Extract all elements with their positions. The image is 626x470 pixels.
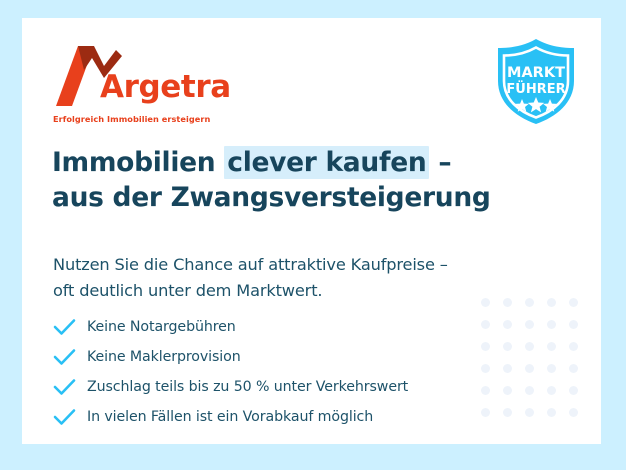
badge-line2: FÜHRER — [506, 81, 565, 97]
list-item: Keine Maklerprovision — [53, 342, 533, 372]
benefit-label: Zuschlag teils bis zu 50 % unter Verkehr… — [87, 379, 408, 395]
headline-line1-after: – — [429, 147, 451, 178]
promo-banner: Argetra Erfolgreich Immobilien ersteiger… — [0, 0, 626, 470]
benefit-label: Keine Notargebühren — [87, 319, 236, 335]
headline: Immobilien clever kaufen – aus der Zwang… — [52, 146, 522, 216]
benefit-label: In vielen Fällen ist ein Vorabkauf mögli… — [87, 409, 373, 425]
logo-tagline: Erfolgreich Immobilien ersteigern — [53, 114, 210, 124]
benefit-label: Keine Maklerprovision — [87, 349, 241, 365]
market-leader-badge: MARKT FÜHRER — [490, 35, 582, 127]
dot — [547, 320, 556, 329]
dot — [547, 364, 556, 373]
headline-highlight: clever kaufen — [224, 146, 429, 179]
benefit-list: Keine Notargebühren Keine Maklerprovisio… — [53, 312, 533, 432]
headline-line2: aus der Zwangsversteigerung — [52, 181, 522, 216]
subheadline-line2: oft deutlich unter dem Marktwert. — [53, 278, 533, 304]
check-icon — [53, 408, 76, 426]
dot — [547, 408, 556, 417]
list-item: In vielen Fällen ist ein Vorabkauf mögli… — [53, 402, 533, 432]
list-item: Zuschlag teils bis zu 50 % unter Verkehr… — [53, 372, 533, 402]
dot — [569, 320, 578, 329]
subheadline: Nutzen Sie die Chance auf attraktive Kau… — [53, 252, 533, 304]
content-card: Argetra Erfolgreich Immobilien ersteiger… — [22, 18, 601, 444]
dot — [547, 298, 556, 307]
check-icon — [53, 348, 76, 366]
dot — [569, 364, 578, 373]
logo-wordmark: Argetra — [100, 72, 231, 103]
dot — [569, 386, 578, 395]
badge-line1: MARKT — [507, 65, 565, 81]
subheadline-line1: Nutzen Sie die Chance auf attraktive Kau… — [53, 252, 533, 278]
check-icon — [53, 378, 76, 396]
dot — [547, 342, 556, 351]
check-icon — [53, 318, 76, 336]
dot — [547, 386, 556, 395]
dot — [569, 408, 578, 417]
dot — [569, 298, 578, 307]
shield-icon: MARKT FÜHRER — [490, 35, 582, 127]
list-item: Keine Notargebühren — [53, 312, 533, 342]
argetra-logo[interactable]: Argetra Erfolgreich Immobilien ersteiger… — [52, 44, 252, 128]
headline-line1-before: Immobilien — [52, 147, 224, 178]
dot — [569, 342, 578, 351]
